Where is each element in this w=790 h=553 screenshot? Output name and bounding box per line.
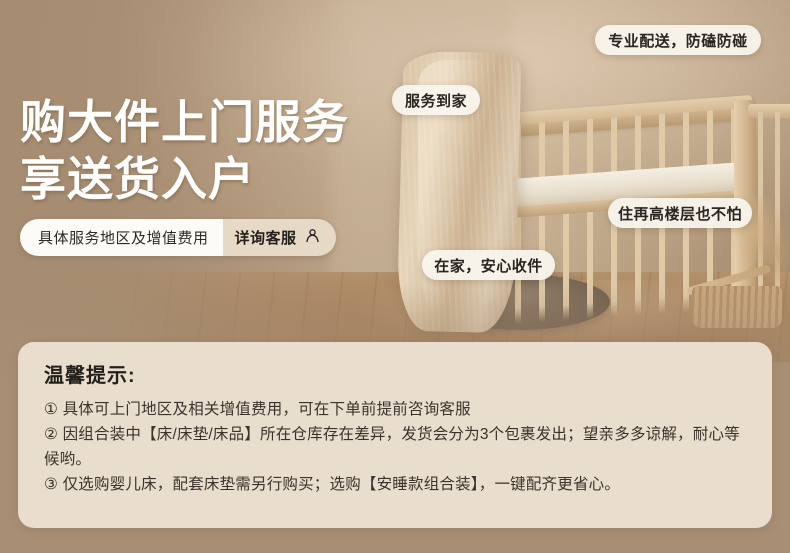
notice-title: 温馨提示: xyxy=(44,359,750,388)
tag-high-floor: 住再高楼层也不怕 xyxy=(608,198,752,228)
tag-receive-at-home: 在家，安心收件 xyxy=(422,250,555,280)
customer-service-person-icon xyxy=(304,227,321,248)
notice-item: ③ 仅选购婴儿床，配套床垫需另行购买；选购【安睡款组合装】，一键配齐更省心。 xyxy=(44,472,750,497)
notice-item: ① 具体可上门地区及相关增值费用，可在下单前提前咨询客服 xyxy=(44,397,750,422)
tag-professional-delivery: 专业配送，防磕防碰 xyxy=(595,25,761,55)
headline: 购大件上门服务 享送货入户 xyxy=(20,94,349,208)
contact-service-cta[interactable]: 具体服务地区及增值费用 详询客服 xyxy=(20,219,336,256)
headline-line-1: 购大件上门服务 xyxy=(20,94,349,151)
cta-action[interactable]: 详询客服 xyxy=(223,219,336,256)
notice-item: ② 因组合装中【床/床垫/床品】所在仓库存在差异，发货会分为3个包裹发出；望亲多… xyxy=(44,422,750,472)
notice-card: 温馨提示: ① 具体可上门地区及相关增值费用，可在下单前提前咨询客服 ② 因组合… xyxy=(18,342,772,528)
headline-line-2: 享送货入户 xyxy=(20,151,349,208)
cta-description: 具体服务地区及增值费用 xyxy=(20,219,223,256)
notice-list: ① 具体可上门地区及相关增值费用，可在下单前提前咨询客服 ② 因组合装中【床/床… xyxy=(44,397,750,497)
delivery-service-banner: 购大件上门服务 享送货入户 具体服务地区及增值费用 详询客服 专业配送，防磕防碰… xyxy=(0,0,790,553)
cta-action-label: 详询客服 xyxy=(235,227,297,248)
tag-service-to-home: 服务到家 xyxy=(392,85,480,115)
